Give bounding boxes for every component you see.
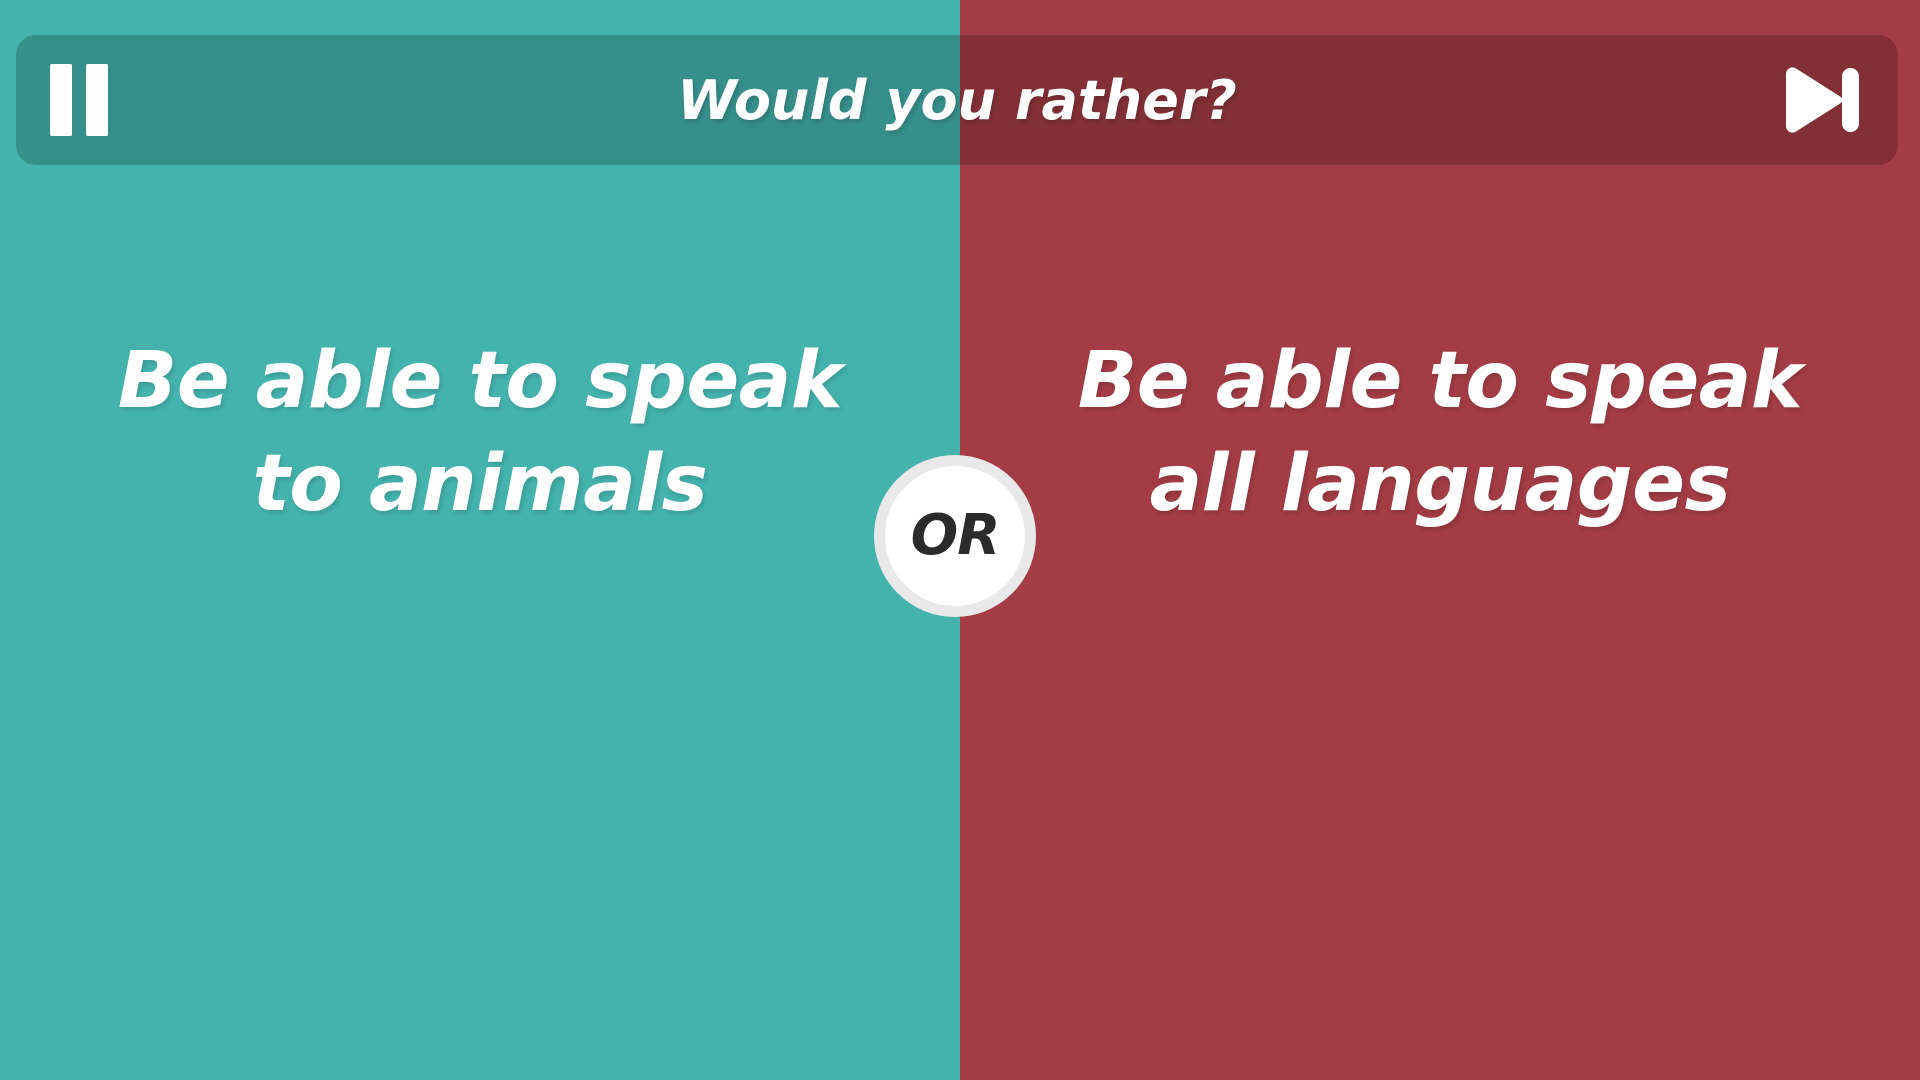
option-right-text: Be able to speak all languages	[960, 330, 1920, 536]
option-left-text: Be able to speak to animals	[0, 330, 960, 536]
or-label: OR	[911, 508, 1000, 564]
or-badge: OR	[874, 455, 1036, 617]
header-bar: Would you rather?	[16, 35, 1898, 165]
would-you-rather-screen: Be able to speak to animals Be able to s…	[0, 0, 1920, 1080]
pause-icon	[50, 64, 108, 136]
pause-button[interactable]	[50, 55, 160, 145]
skip-next-icon	[1780, 62, 1864, 138]
page-title: Would you rather?	[160, 69, 1754, 132]
skip-next-button[interactable]	[1754, 55, 1864, 145]
